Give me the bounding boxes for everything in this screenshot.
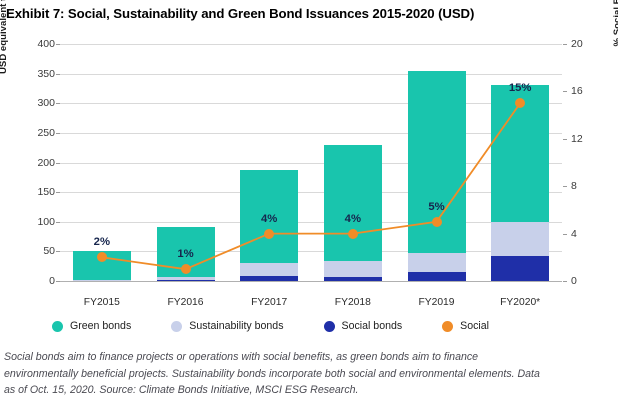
- bar-segment[interactable]: [157, 280, 215, 281]
- line-value-label: 4%: [345, 213, 361, 225]
- left-axis-title: USD equivalent to Bond Issuance in USD (…: [0, 0, 9, 74]
- footnote-text: Social bonds aim to finance projects or …: [4, 349, 550, 399]
- bar-segment[interactable]: [491, 222, 549, 256]
- left-axis-tick-label: 400: [13, 38, 55, 50]
- x-axis-tick-label: FY2018: [311, 297, 395, 308]
- right-axis-tick-label: 12: [562, 133, 598, 145]
- left-axis-tick-label: 50: [13, 245, 55, 257]
- bar-segment[interactable]: [240, 276, 298, 281]
- bar-segment[interactable]: [240, 263, 298, 276]
- plot-area: 050100150200250300350400 048121620 2%1%4…: [60, 44, 562, 281]
- bar-stack[interactable]: [240, 44, 298, 281]
- right-axis-tick-label: 4: [562, 228, 598, 240]
- x-axis-tick-label: FY2020*: [478, 297, 562, 308]
- bar-segment[interactable]: [157, 277, 215, 279]
- bar-segment[interactable]: [408, 272, 466, 281]
- circle-marker-icon: [324, 321, 335, 332]
- legend-item-label: Sustainability bonds: [189, 320, 283, 332]
- left-axis-tick-label: 350: [13, 68, 55, 80]
- line-value-label: 1%: [177, 248, 193, 260]
- line-marker-dot[interactable]: [264, 229, 274, 239]
- circle-marker-icon: [171, 321, 182, 332]
- right-axis-title: % Social Bonds in Total Bond Issuance: [612, 0, 618, 72]
- legend-item-label: Social bonds: [342, 320, 403, 332]
- left-axis-tick-label: 0: [13, 275, 55, 287]
- bar-stack[interactable]: [491, 44, 549, 281]
- legend-item-label: Social: [460, 320, 489, 332]
- bar-segment[interactable]: [73, 280, 131, 281]
- bar-stack[interactable]: [157, 44, 215, 281]
- page-title: Exhibit 7: Social, Sustainability and Gr…: [6, 6, 606, 21]
- bar-segment[interactable]: [408, 253, 466, 272]
- bar-segment[interactable]: [324, 261, 382, 276]
- bar-stack[interactable]: [324, 44, 382, 281]
- x-axis-tick-label: FY2017: [227, 297, 311, 308]
- x-axis-tick-label: FY2019: [395, 297, 479, 308]
- legend-item-label: Green bonds: [70, 320, 131, 332]
- right-axis-tick-label: 0: [562, 275, 598, 287]
- chart-legend: Green bondsSustainability bondsSocial bo…: [0, 315, 618, 337]
- left-axis-tick-label: 200: [13, 157, 55, 169]
- left-axis-tick-label: 150: [13, 186, 55, 198]
- chart-figure: Exhibit 7: Social, Sustainability and Gr…: [0, 0, 618, 400]
- legend-item[interactable]: Sustainability bonds: [171, 320, 283, 332]
- legend-item[interactable]: Social: [442, 320, 489, 332]
- bar-segment[interactable]: [324, 277, 382, 281]
- left-axis-tick-label: 100: [13, 216, 55, 228]
- line-value-label: 15%: [509, 82, 532, 94]
- bar-segment[interactable]: [73, 280, 131, 281]
- bar-series: [60, 44, 562, 281]
- bar-stack[interactable]: [408, 44, 466, 281]
- line-marker-dot[interactable]: [348, 229, 358, 239]
- line-marker-dot[interactable]: [181, 264, 191, 274]
- line-value-label: 5%: [428, 201, 444, 213]
- line-value-label: 2%: [94, 236, 110, 248]
- left-axis-tick-label: 250: [13, 127, 55, 139]
- right-axis-tick-label: 8: [562, 180, 598, 192]
- right-axis-tick-label: 16: [562, 85, 598, 97]
- x-axis-tick-label: FY2015: [60, 297, 144, 308]
- circle-marker-icon: [442, 321, 453, 332]
- line-marker-dot[interactable]: [432, 217, 442, 227]
- circle-marker-icon: [52, 321, 63, 332]
- bar-segment[interactable]: [491, 256, 549, 281]
- legend-item[interactable]: Green bonds: [52, 320, 131, 332]
- right-axis-tick-label: 20: [562, 38, 598, 50]
- chart-plot-region: USD equivalent to Bond Issuance in USD (…: [0, 30, 618, 310]
- legend-item[interactable]: Social bonds: [324, 320, 403, 332]
- bar-segment[interactable]: [324, 145, 382, 261]
- line-value-label: 4%: [261, 213, 277, 225]
- left-axis-tick-label: 300: [13, 97, 55, 109]
- x-axis-tick-label: FY2016: [144, 297, 228, 308]
